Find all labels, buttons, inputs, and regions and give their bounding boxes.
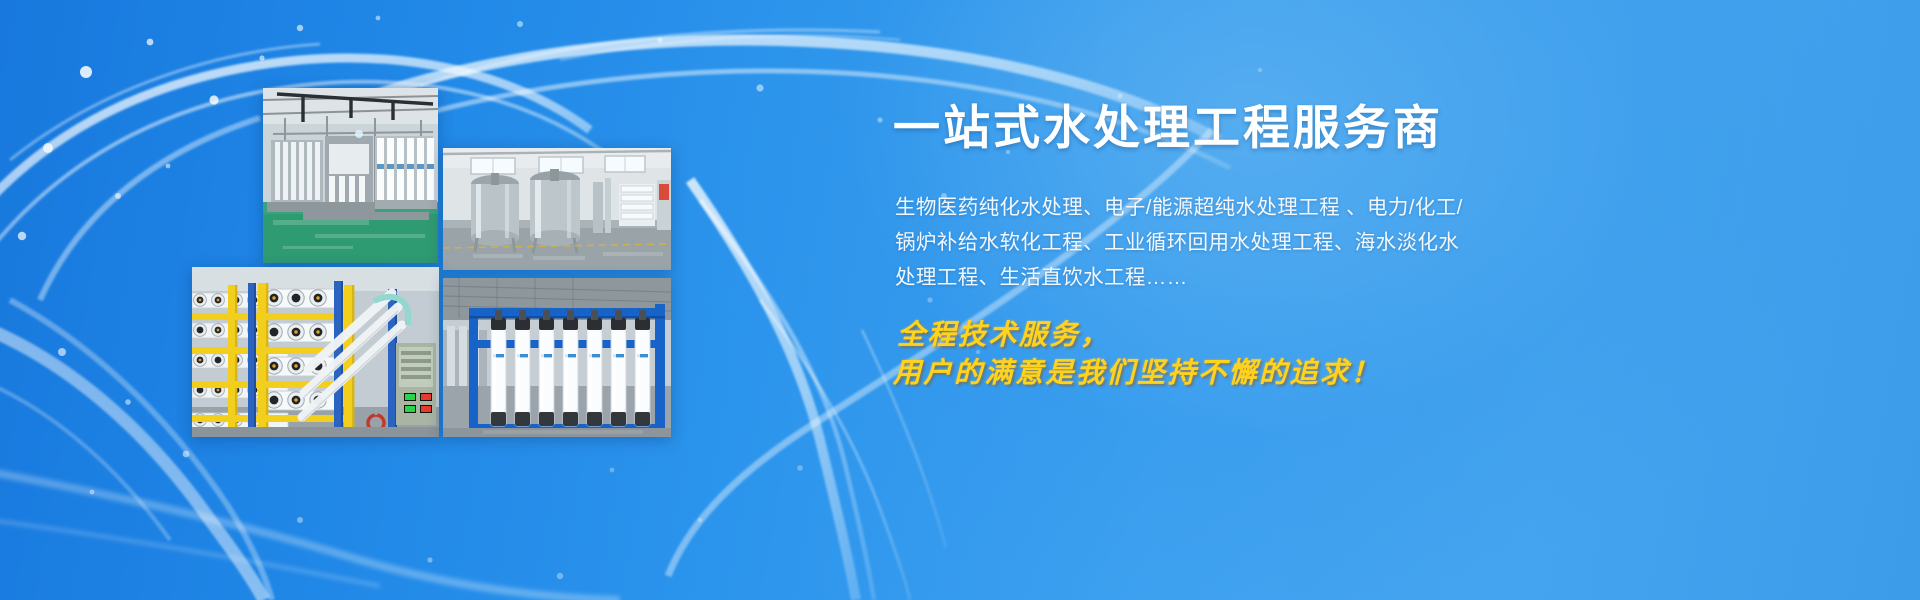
slogan-line-1: 全程技术服务， [893, 316, 1493, 354]
service-description: 生物医药纯化水处理、电子/能源超纯水处理工程 、电力/化工/锅炉补给水软化工程、… [895, 190, 1467, 295]
photo-stainless-steel-pressure-tanks[interactable] [443, 148, 671, 270]
page-title: 一站式水处理工程服务商 [893, 103, 1493, 152]
photo-collage [0, 0, 700, 600]
water-treatment-banner: 一站式水处理工程服务商 生物医药纯化水处理、电子/能源超纯水处理工程 、电力/化… [0, 0, 1920, 600]
photo-reverse-osmosis-membrane-array[interactable] [192, 267, 439, 437]
photo-ultrafiltration-membrane-racks[interactable] [263, 88, 438, 263]
slogan: 全程技术服务， 用户的满意是我们坚持不懈的追求！ [893, 316, 1493, 392]
banner-text-block: 一站式水处理工程服务商 生物医药纯化水处理、电子/能源超纯水处理工程 、电力/化… [893, 0, 1513, 600]
photo-blue-frame-uf-skid[interactable] [443, 278, 671, 437]
slogan-line-2: 用户的满意是我们坚持不懈的追求！ [893, 354, 1493, 392]
